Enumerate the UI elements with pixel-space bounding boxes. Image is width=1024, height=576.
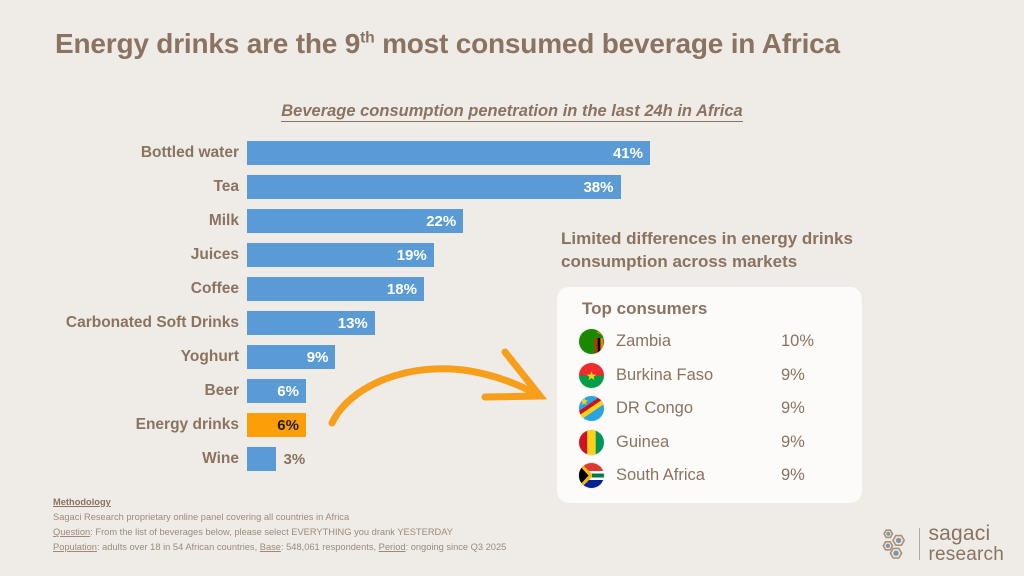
methodology-line-1: Sagaci Research proprietary online panel… — [53, 510, 506, 525]
bar-category-label: Carbonated Soft Drinks — [0, 314, 247, 332]
bar-row: Bottled water41% — [0, 141, 700, 165]
bar-value-label: 6% — [277, 417, 299, 434]
chart-subtitle-text: Beverage consumption penetration in the … — [281, 102, 742, 122]
right-panel-heading: Limited differences in energy drinks con… — [561, 228, 951, 273]
consumer-list-item: Zambia10% — [557, 325, 862, 359]
bar-category-label: Yoghurt — [0, 348, 247, 366]
bar-category-label: Beer — [0, 382, 247, 400]
bar-value-label: 38% — [583, 179, 613, 196]
chart-subtitle: Beverage consumption penetration in the … — [0, 102, 1024, 121]
sagaci-hexagons-icon — [879, 527, 913, 561]
bar-category-label: Tea — [0, 178, 247, 196]
bar-fill: 6% — [247, 413, 306, 437]
bar-category-label: Juices — [0, 246, 247, 264]
consumer-percentage: 9% — [781, 466, 805, 485]
methodology-base-text: : 548,061 respondents, — [281, 542, 379, 552]
flag-zambia-icon — [579, 329, 604, 354]
methodology-question-text: : From the list of beverages below, plea… — [90, 527, 453, 537]
flag-south-africa-icon — [579, 463, 604, 488]
methodology-period-text: : ongoing since Q3 2025 — [406, 542, 507, 552]
consumer-country-name: DR Congo — [616, 399, 781, 418]
bar-fill: 6% — [247, 379, 306, 403]
methodology-line-3: Population: adults over 18 in 54 African… — [53, 540, 506, 555]
bar-track: 38% — [247, 175, 700, 199]
bar-fill: 13% — [247, 311, 375, 335]
consumer-country-name: South Africa — [616, 466, 781, 485]
page-title-ordinal-suffix: th — [360, 30, 374, 47]
flag-guinea-icon — [579, 430, 604, 455]
bar-category-label: Coffee — [0, 280, 247, 298]
methodology-question-label: Question — [53, 527, 90, 537]
consumer-list-item: Burkina Faso9% — [557, 359, 862, 393]
consumer-list-item: South Africa9% — [557, 459, 862, 493]
bar-fill: 41% — [247, 141, 650, 165]
methodology-note: Methodology Sagaci Research proprietary … — [53, 495, 506, 555]
flag-dr-congo-icon — [579, 396, 604, 421]
consumer-country-name: Guinea — [616, 433, 781, 452]
consumer-percentage: 9% — [781, 399, 805, 418]
methodology-population-text: : adults over 18 in 54 African countries… — [97, 542, 260, 552]
methodology-population-label: Population — [53, 542, 97, 552]
page-title-text-after: most consumed beverage in Africa — [375, 28, 840, 59]
logo-line-sagaci: sagaci — [928, 523, 1004, 544]
consumer-country-name: Zambia — [616, 332, 781, 351]
bar-category-label: Wine — [0, 450, 247, 468]
bar-fill: 19% — [247, 243, 434, 267]
bar-fill: 3% — [247, 447, 276, 471]
top-consumers-title: Top consumers — [582, 299, 862, 319]
bar-category-label: Milk — [0, 212, 247, 230]
bar-value-label: 19% — [397, 247, 427, 264]
consumer-percentage: 10% — [781, 332, 814, 351]
consumer-country-name: Burkina Faso — [616, 366, 781, 385]
bar-value-label: 6% — [277, 383, 299, 400]
top-consumers-card: Top consumers Zambia10%Burkina Faso9%DR … — [557, 287, 862, 503]
page-title: Energy drinks are the 9th most consumed … — [55, 28, 840, 60]
right-panel-heading-line2: consumption across markets — [561, 251, 951, 274]
sagaci-research-logo: sagaci research — [879, 523, 1004, 564]
page-title-text-before: Energy drinks are the 9 — [55, 28, 360, 59]
consumer-list-item: DR Congo9% — [557, 392, 862, 426]
flag-burkina-faso-icon — [579, 363, 604, 388]
consumer-percentage: 9% — [781, 433, 805, 452]
consumer-list-item: Guinea9% — [557, 426, 862, 460]
bar-fill: 22% — [247, 209, 463, 233]
bar-category-label: Energy drinks — [0, 416, 247, 434]
bar-category-label: Bottled water — [0, 144, 247, 162]
methodology-heading: Methodology — [53, 495, 506, 510]
methodology-line-2: Question: From the list of beverages bel… — [53, 525, 506, 540]
top-consumers-list: Zambia10%Burkina Faso9%DR Congo9%Guinea9… — [557, 325, 862, 493]
bar-fill: 9% — [247, 345, 335, 369]
bar-fill: 38% — [247, 175, 621, 199]
logo-line-research: research — [928, 545, 1004, 564]
bar-value-label: 9% — [307, 349, 329, 366]
methodology-heading-text: Methodology — [53, 497, 111, 507]
bar-value-label: 13% — [338, 315, 368, 332]
right-panel-heading-line1: Limited differences in energy drinks — [561, 228, 951, 251]
bar-track: 41% — [247, 141, 700, 165]
bar-value-label: 18% — [387, 281, 417, 298]
bar-row: Tea38% — [0, 175, 700, 199]
logo-divider — [919, 528, 920, 560]
bar-fill: 18% — [247, 277, 424, 301]
methodology-base-label: Base — [260, 542, 281, 552]
logo-wordmark: sagaci research — [928, 523, 1004, 564]
bar-value-label: 41% — [613, 145, 643, 162]
consumer-percentage: 9% — [781, 366, 805, 385]
bar-value-label: 3% — [283, 447, 305, 471]
bar-value-label: 22% — [426, 213, 456, 230]
methodology-period-label: Period — [379, 542, 406, 552]
